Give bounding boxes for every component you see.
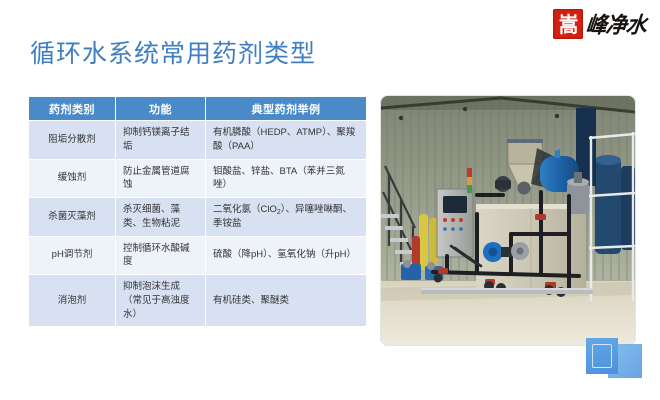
cell-category: 杀菌灭藻剂	[29, 198, 116, 237]
cell-examples: 有机膦酸（HEDP、ATMP）、聚羧酸（PAA）	[206, 121, 367, 160]
table-row: pH调节剂 控制循环水酸碱度 硫酸（降pH）、氢氧化钠（升pH）	[29, 236, 367, 275]
examples-prefix: 二氧化氯（ClO	[213, 204, 277, 215]
column-header-examples: 典型药剂举例	[206, 97, 367, 121]
cell-examples: 有机硅类、聚醚类	[206, 275, 367, 327]
seal-character: 嵩	[558, 14, 577, 35]
cell-function: 抑制泡沫生成（常见于高浊度水）	[116, 275, 206, 327]
table-row: 杀菌灭藻剂 杀灭细菌、藻类、生物粘泥 二氧化氯（ClO2）、异噻唑啉酮、季铵盐	[29, 198, 367, 237]
table-row: 阻垢分散剂 抑制钙镁离子结垢 有机膦酸（HEDP、ATMP）、聚羧酸（PAA）	[29, 121, 367, 160]
company-logo: 嵩 峰净水	[553, 7, 646, 41]
logo-wordmark: 峰净水	[585, 13, 647, 35]
cell-examples: 硫酸（降pH）、氢氧化钠（升pH）	[206, 236, 367, 275]
table-header-row: 药剂类别 功能 典型药剂举例	[29, 97, 367, 121]
cell-function: 抑制钙镁离子结垢	[116, 121, 206, 160]
cell-function: 防止金属管道腐蚀	[116, 159, 206, 198]
equipment-photo-illustration	[381, 96, 635, 345]
cell-category: 阻垢分散剂	[29, 121, 116, 160]
page-title: 循环水系统常用药剂类型	[30, 34, 316, 70]
table-row: 缓蚀剂 防止金属管道腐蚀 钼酸盐、锌盐、BTA（苯并三氮唑）	[29, 159, 367, 198]
examples-subscript: 2	[277, 209, 281, 216]
cell-function: 控制循环水酸碱度	[116, 236, 206, 275]
cell-examples: 二氧化氯（ClO2）、异噻唑啉酮、季铵盐	[206, 198, 367, 237]
cell-category: 消泡剂	[29, 275, 116, 327]
chemical-types-table-container: 药剂类别 功能 典型药剂举例 阻垢分散剂 抑制钙镁离子结垢 有机膦酸（HEDP、…	[28, 96, 366, 327]
cell-examples: 钼酸盐、锌盐、BTA（苯并三氮唑）	[206, 159, 367, 198]
cell-category: pH调节剂	[29, 236, 116, 275]
table-row: 消泡剂 抑制泡沫生成（常见于高浊度水） 有机硅类、聚醚类	[29, 275, 367, 327]
column-header-category: 药剂类别	[29, 97, 116, 121]
equipment-photo	[381, 96, 635, 345]
chemical-types-table: 药剂类别 功能 典型药剂举例 阻垢分散剂 抑制钙镁离子结垢 有机膦酸（HEDP、…	[28, 96, 367, 327]
cell-category: 缓蚀剂	[29, 159, 116, 198]
cell-function: 杀灭细菌、藻类、生物粘泥	[116, 198, 206, 237]
seal-stamp-icon: 嵩	[553, 9, 583, 39]
decorative-square-outline	[586, 338, 618, 374]
slide-canvas: 嵩 峰净水 循环水系统常用药剂类型 药剂类别 功能 典型药剂举例 阻垢分散剂 抑…	[0, 0, 660, 400]
column-header-function: 功能	[116, 97, 206, 121]
decorative-squares	[586, 338, 642, 384]
